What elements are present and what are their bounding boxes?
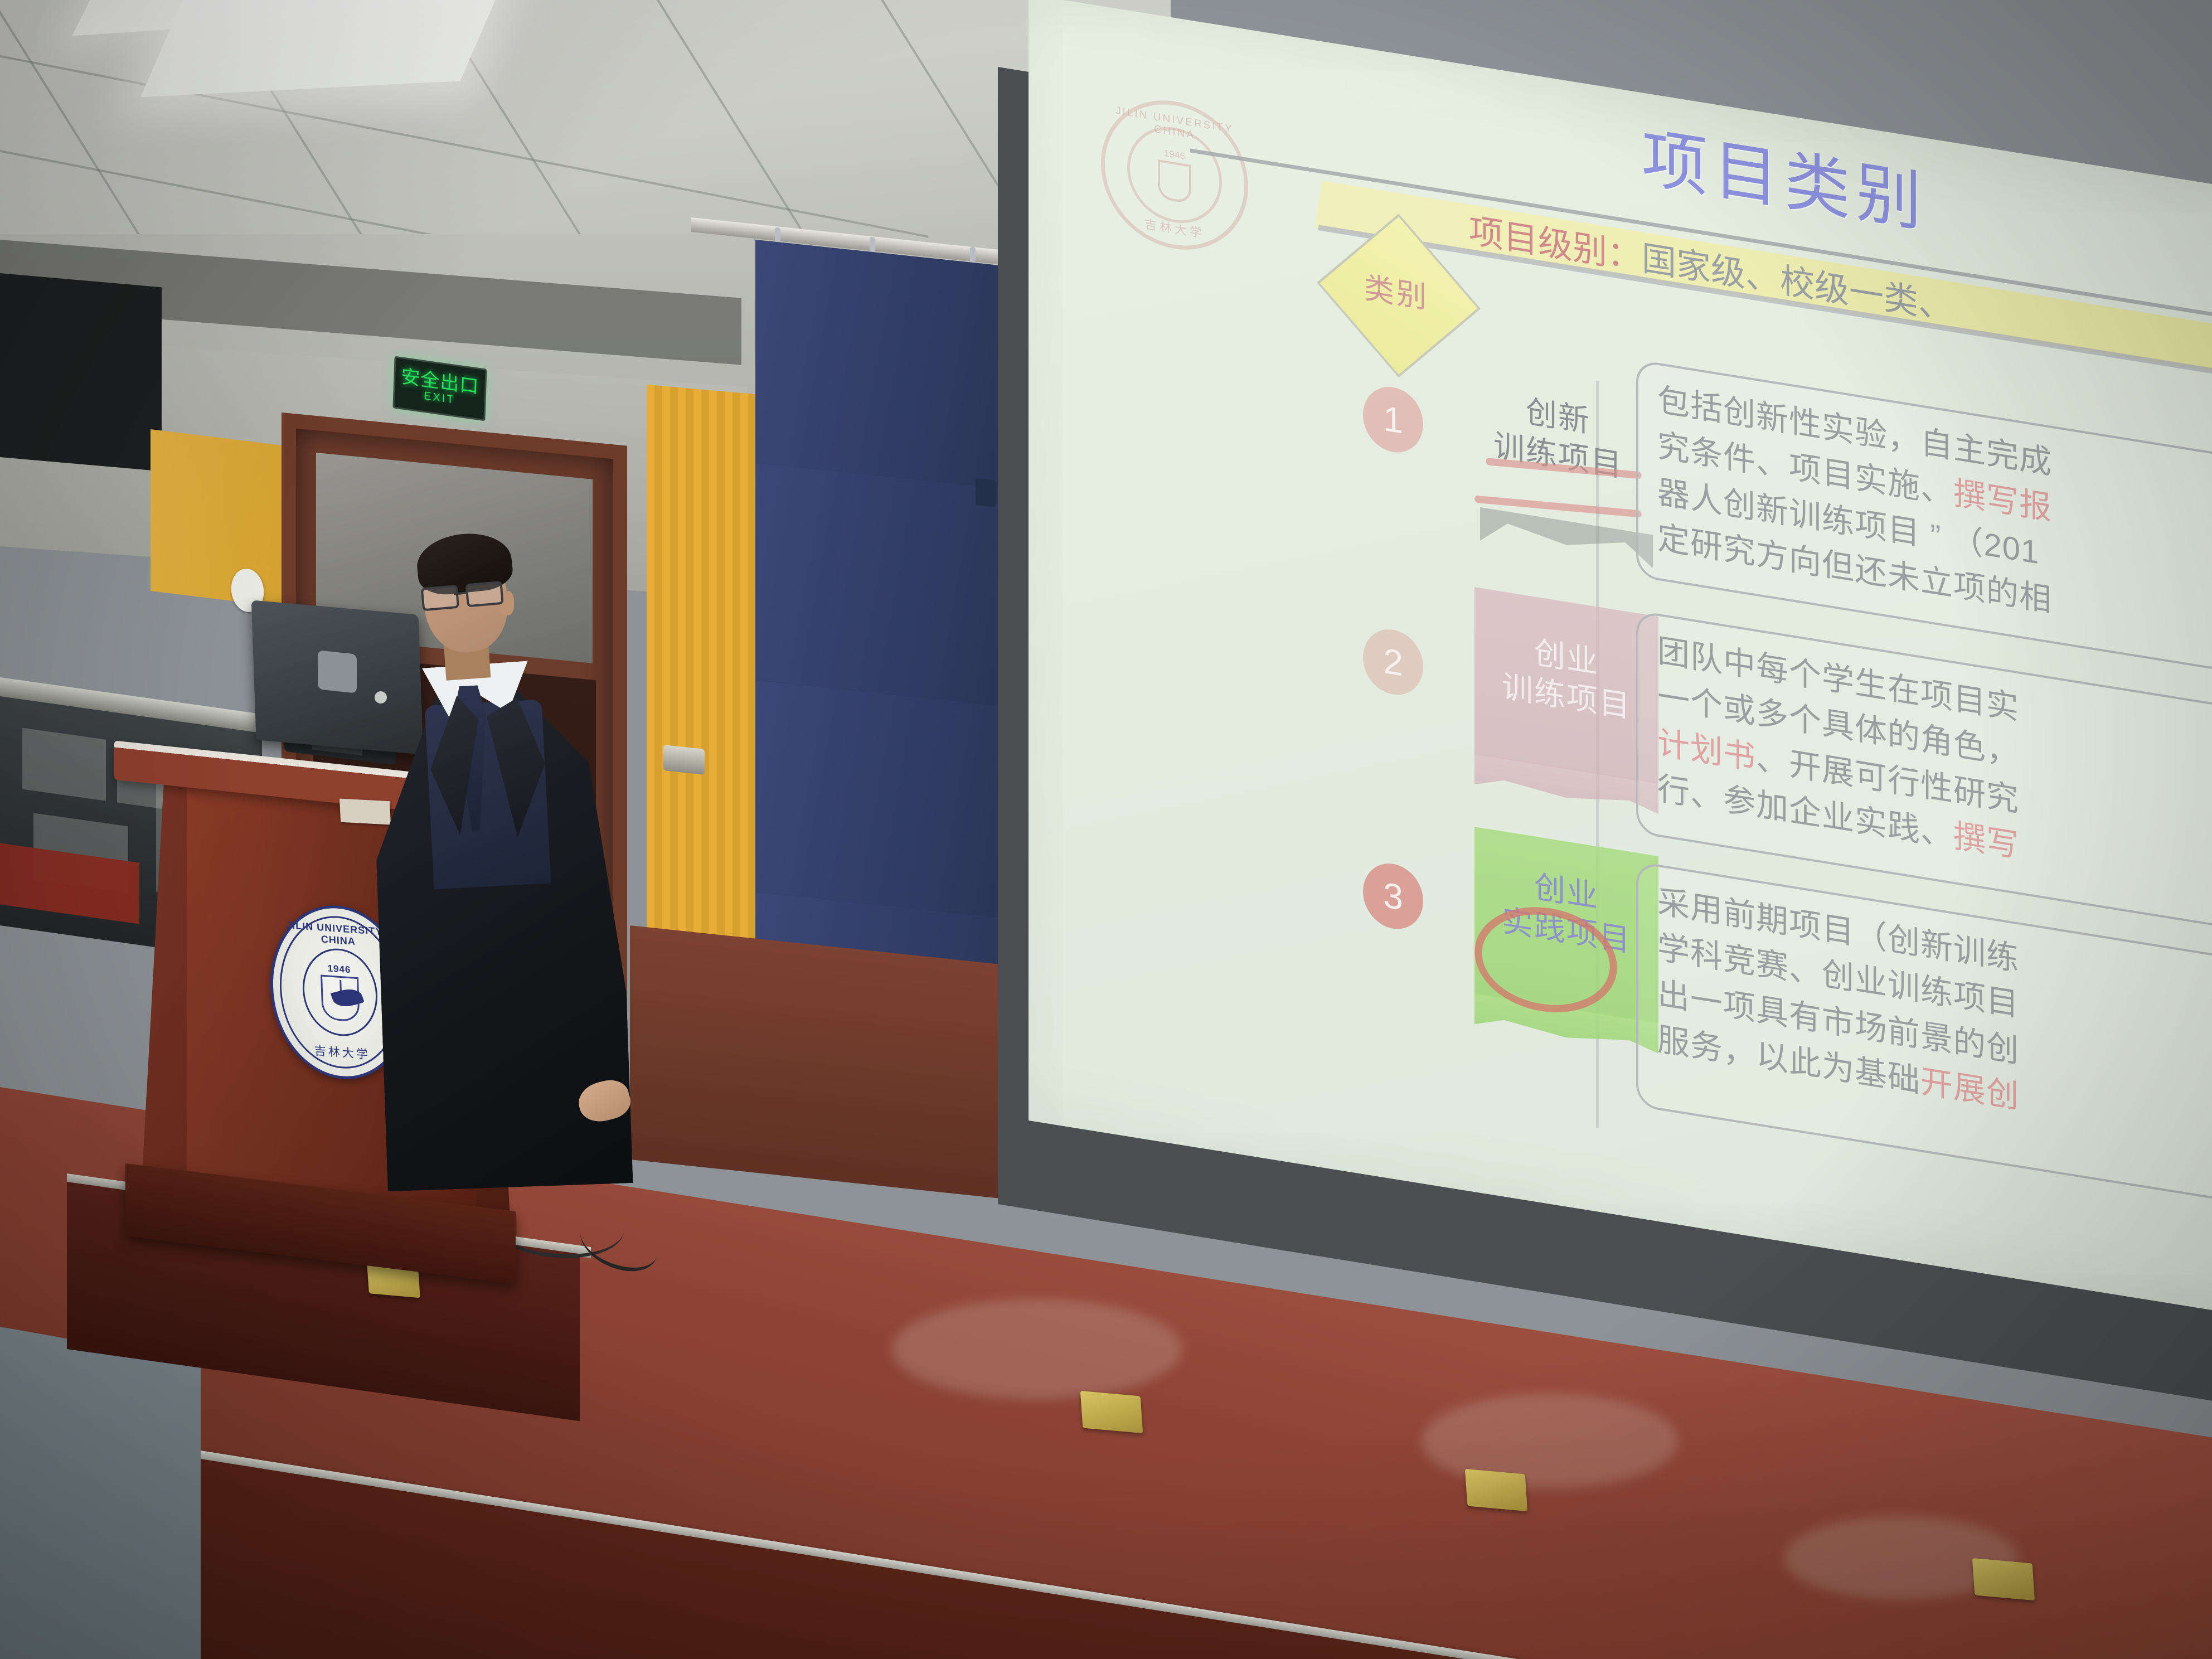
hall-floor [0, 1327, 201, 1659]
presentation-slide: JILIN UNIVERSITY CHINA 1946 吉林大学 项目类别 项目… [1029, 0, 2212, 1316]
projection-screen: JILIN UNIVERSITY CHINA 1946 吉林大学 项目类别 项目… [1029, 0, 2212, 1316]
curtain-latch-icon [976, 478, 996, 507]
presenter [390, 518, 630, 1187]
lecture-hall-photo: 安全出口 EXIT JILIN UNIVERSITY CHINA 1946 [0, 0, 2212, 1659]
university-seal-watermark: JILIN UNIVERSITY CHINA 1946 吉林大学 [1101, 90, 1248, 260]
lectern-nameplate [339, 799, 391, 825]
stage-floor-outlet [1972, 1558, 2035, 1600]
seal-shield-icon [1158, 159, 1191, 204]
row-3-content-box: 采用前期项目（创新训练 学科竞赛、创业训练项目 出一项具有市场前景的创 服务，以… [1636, 861, 2212, 1223]
row-badge-1: 1 [1363, 382, 1423, 457]
stage-floor-outlet [1465, 1469, 1527, 1511]
seal-year: 1946 [1164, 147, 1185, 162]
wall-recess-dark [0, 273, 162, 471]
monitor-vesa-mount-icon [318, 650, 357, 693]
project-level-value: 国家级、校级一类、 [1642, 239, 1953, 327]
stage-floor-outlet [1080, 1391, 1143, 1433]
row-badge-2: 2 [1363, 625, 1423, 699]
row-badge-3: 3 [1363, 859, 1423, 933]
slide-title: 项目类别 [1642, 104, 1927, 245]
door-handle[interactable] [663, 745, 705, 775]
monitor-power-led-icon [375, 691, 387, 704]
